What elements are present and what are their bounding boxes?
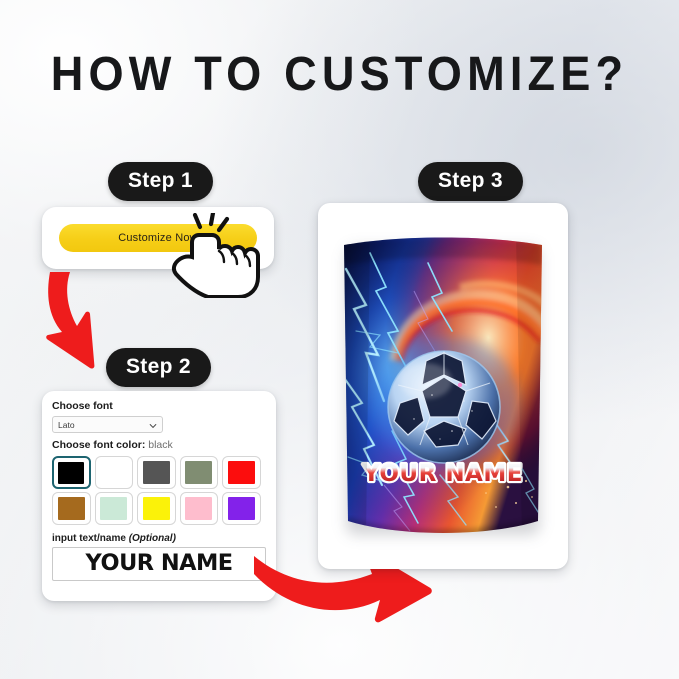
- color-swatch-grid: [52, 456, 266, 525]
- color-chip-pink: [185, 497, 212, 520]
- color-chip-mint: [100, 497, 127, 520]
- name-text-input[interactable]: YOUR NAME: [52, 547, 266, 581]
- step-3-card: YOUR NAME YOUR NAME: [318, 203, 568, 569]
- customizer-panel: Choose font Lato Choose font color: blac…: [42, 391, 276, 601]
- color-swatch-yellow[interactable]: [137, 492, 176, 525]
- input-text-name-text: input text/name: [52, 533, 126, 544]
- step-2-badge: Step 2: [106, 348, 211, 387]
- color-chip-dark-gray: [143, 461, 170, 484]
- name-text-input-value: YOUR NAME: [85, 553, 232, 575]
- blanket-name-text: YOUR NAME: [362, 461, 523, 487]
- color-swatch-dark-gray[interactable]: [137, 456, 176, 489]
- color-swatch-mint[interactable]: [95, 492, 134, 525]
- color-swatch-pink[interactable]: [180, 492, 219, 525]
- choose-font-color-label: Choose font color: black: [52, 439, 266, 451]
- font-select-value: Lato: [58, 420, 75, 430]
- step-1-badge: Step 1: [108, 162, 213, 201]
- color-chip-brown: [58, 497, 85, 520]
- blanket-product-image: YOUR NAME YOUR NAME: [340, 235, 546, 537]
- color-chip-white: [100, 461, 127, 484]
- color-chip-yellow: [143, 497, 170, 520]
- font-select[interactable]: Lato: [52, 416, 163, 433]
- step-1-card: Customize Now: [42, 207, 274, 269]
- color-swatch-white[interactable]: [95, 456, 134, 489]
- customize-now-button[interactable]: Customize Now: [59, 224, 257, 252]
- page-root: HOW TO CUSTOMIZE? Step 1 Customize Now S…: [0, 0, 679, 679]
- step-2-card: Choose font Lato Choose font color: blac…: [42, 391, 276, 601]
- chevron-down-icon: [149, 422, 157, 430]
- choose-font-color-text: Choose font color:: [52, 439, 145, 451]
- color-swatch-sage-green[interactable]: [180, 456, 219, 489]
- color-chip-purple: [228, 497, 255, 520]
- color-chip-red: [228, 461, 255, 484]
- choose-font-color-value: black: [148, 439, 173, 451]
- color-chip-black: [58, 462, 84, 484]
- input-text-name-label: input text/name (Optional): [52, 533, 266, 544]
- color-swatch-red[interactable]: [222, 456, 261, 489]
- step-3-badge: Step 3: [418, 162, 523, 201]
- color-chip-sage-green: [185, 461, 212, 484]
- page-title: HOW TO CUSTOMIZE?: [20, 47, 658, 102]
- color-swatch-purple[interactable]: [222, 492, 261, 525]
- blanket-artwork: YOUR NAME YOUR NAME: [340, 235, 546, 537]
- input-optional-text: (Optional): [129, 533, 176, 544]
- choose-font-label: Choose font: [52, 400, 266, 412]
- color-swatch-brown[interactable]: [52, 492, 91, 525]
- color-swatch-black[interactable]: [52, 456, 91, 489]
